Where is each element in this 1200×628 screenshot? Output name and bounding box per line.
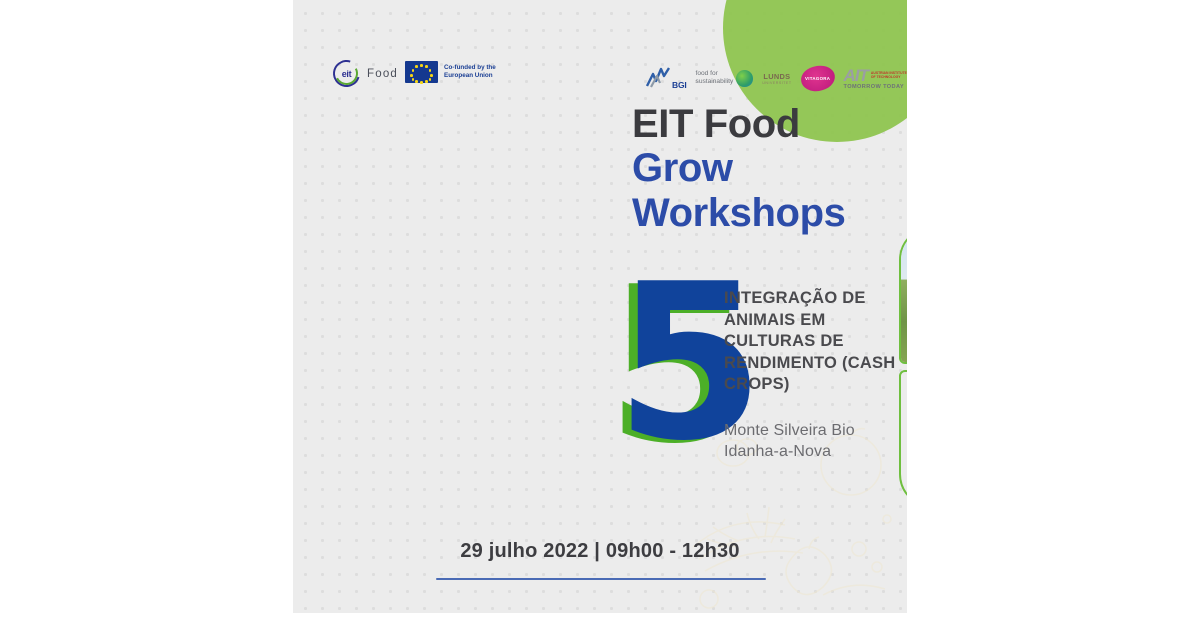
logo-bar: eit Food xyxy=(293,55,907,101)
session-venue: Monte Silveira Bio xyxy=(724,420,899,441)
session-number: 5 5 xyxy=(606,258,726,483)
eu-flag-icon xyxy=(405,61,438,83)
eit-mark-word: eit xyxy=(333,69,360,79)
lunds-universitet-logo: LUNDS UNIVERSITET xyxy=(762,72,791,85)
photo-farmers-walking-field xyxy=(899,226,907,364)
eu-cofunded-line2: European Union xyxy=(444,72,493,79)
eit-food-ring-icon: eit xyxy=(333,60,360,87)
session-title: INTEGRAÇÃO DE ANIMAIS EM CULTURAS DE REN… xyxy=(724,288,899,396)
food-for-sustainability-logo: food for sustainability xyxy=(696,70,754,87)
ait-logo: AIT AUSTRIAN INSTITUTE OF TECHNOLOGY TOM… xyxy=(844,67,907,90)
session-venue-block: Monte Silveira Bio Idanha-a-Nova xyxy=(724,420,899,463)
eu-cofunded-text: Co-funded by the European Union xyxy=(444,64,496,81)
event-datetime: 29 julho 2022 | 09h00 - 12h30 xyxy=(293,540,907,563)
headline-line-1: EIT Food xyxy=(632,104,907,146)
vitagora-logo: VITAGORA xyxy=(799,63,836,92)
bgi-arrow-icon xyxy=(645,66,671,90)
page-root: eit Food xyxy=(0,0,1200,628)
apple-globe-icon xyxy=(736,70,753,87)
eu-cofunded-logo: Co-funded by the European Union xyxy=(405,61,496,83)
lunds-line1: LUNDS xyxy=(762,72,791,81)
poster-artboard: eit Food xyxy=(293,0,907,613)
farmers-illustration xyxy=(901,228,907,362)
session-details: INTEGRAÇÃO DE ANIMAIS EM CULTURAS DE REN… xyxy=(724,288,899,463)
ffs-line1: food for xyxy=(696,70,718,77)
bgi-logo: BGI xyxy=(645,66,687,90)
ait-tagline: TOMORROW TODAY xyxy=(844,84,905,90)
ffs-line2: sustainability xyxy=(696,78,734,85)
flower-of-life-icon xyxy=(901,372,907,506)
session-location: Idanha-a-Nova xyxy=(724,441,899,462)
eu-cofunded-line1: Co-funded by the xyxy=(444,64,496,71)
ait-sub2: OF TECHNOLOGY xyxy=(871,75,901,79)
lunds-line2: UNIVERSITET xyxy=(762,81,791,85)
bgi-label: BGI xyxy=(672,80,687,90)
eit-food-logo: eit Food xyxy=(333,60,398,87)
eit-food-label: Food xyxy=(367,68,398,80)
headline-line-2: Grow Workshops xyxy=(632,146,907,237)
photo-collage xyxy=(899,226,907,504)
geometric-flower-of-life-pattern xyxy=(899,370,907,508)
event-datetime-text: 29 julho 2022 | 09h00 - 12h30 xyxy=(460,540,739,562)
ait-label: AIT xyxy=(844,67,868,84)
vitagora-label: VITAGORA xyxy=(805,76,830,81)
partner-logo-strip: BGI food for sustainability LUNDS UNIVER… xyxy=(645,55,907,101)
page-title: EIT Food Grow Workshops xyxy=(632,104,907,237)
